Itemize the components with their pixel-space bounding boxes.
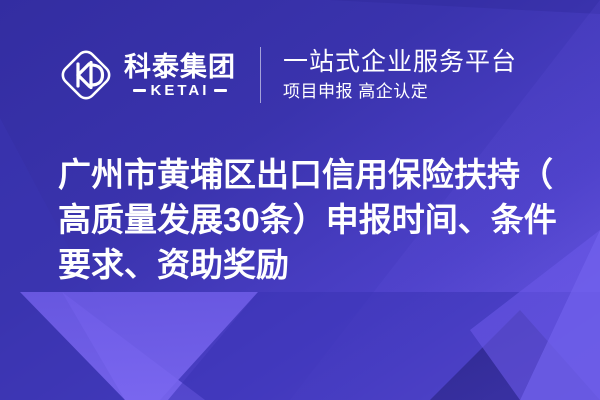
dash-left-icon (133, 89, 146, 92)
brand-logo[interactable]: 科泰集团 KETAI (58, 44, 236, 106)
brand-name-en: KETAI (151, 83, 210, 99)
banner-header: 科泰集团 KETAI 一站式企业服务平台 项目申报 高企认定 (58, 44, 517, 106)
tagline-main: 一站式企业服务平台 (283, 47, 517, 78)
page-title: 广州市黄埔区出口信用保险扶持（ 高质量发展30条）申报时间、条件 要求、资助奖励 (58, 152, 564, 287)
brand-wordmark: 科泰集团 KETAI (124, 52, 236, 99)
dash-right-icon (214, 89, 227, 92)
headline-line-3: 要求、资助奖励 (58, 242, 564, 287)
brand-name-cn: 科泰集团 (124, 52, 236, 82)
ketai-diamond-kt-mark-icon (58, 47, 114, 103)
headline-line-1: 广州市黄埔区出口信用保险扶持（ (58, 152, 564, 197)
promotional-banner: 科泰集团 KETAI 一站式企业服务平台 项目申报 高企认定 广州市黄埔区出口信… (0, 0, 600, 400)
headline-line-2: 高质量发展30条）申报时间、条件 (58, 197, 564, 242)
header-divider (260, 47, 261, 103)
brand-name-en-row: KETAI (133, 83, 228, 99)
tagline-sub: 项目申报 高企认定 (283, 80, 517, 104)
tagline-block: 一站式企业服务平台 项目申报 高企认定 (283, 47, 517, 104)
